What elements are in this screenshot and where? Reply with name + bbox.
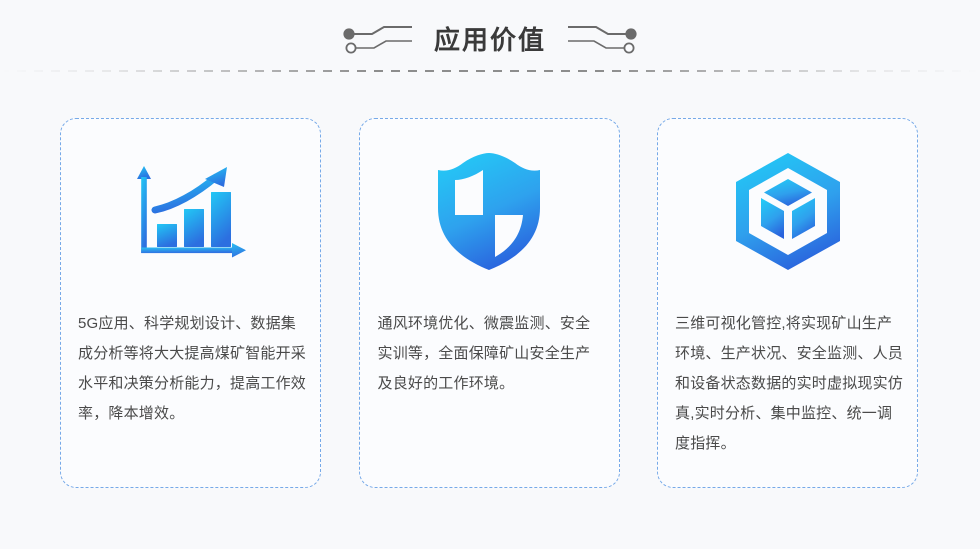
- card-1-icon-wrap: [61, 119, 320, 309]
- value-card-1[interactable]: 5G应用、科学规划设计、数据集成分析等将大大提高煤矿智能开采水平和决策分析能力，…: [60, 118, 321, 488]
- card-3-description: 三维可视化管控,将实现矿山生产环境、生产状况、安全监测、人员和设备状态数据的实时…: [658, 309, 917, 459]
- header-divider: [0, 70, 980, 72]
- title-row: 应用价值: [0, 22, 980, 58]
- card-3-icon-wrap: [658, 119, 917, 309]
- value-card-3[interactable]: 三维可视化管控,将实现矿山生产环境、生产状况、安全监测、人员和设备状态数据的实时…: [657, 118, 918, 488]
- bar-chart-growth-icon: [128, 153, 254, 276]
- circuit-line-left-icon: [342, 25, 414, 55]
- card-2-description: 通风环境优化、微震监测、安全实训等，全面保障矿山安全生产及良好的工作环境。: [360, 309, 619, 399]
- circuit-line-right-icon: [566, 25, 638, 55]
- page-title: 应用价值: [428, 22, 552, 58]
- hexagon-cube-3d-icon: [730, 151, 846, 278]
- page-header: 应用价值: [0, 0, 980, 90]
- card-1-description: 5G应用、科学规划设计、数据集成分析等将大大提高煤矿智能开采水平和决策分析能力，…: [61, 309, 320, 429]
- value-cards-container: 5G应用、科学规划设计、数据集成分析等将大大提高煤矿智能开采水平和决策分析能力，…: [60, 118, 918, 488]
- shield-security-icon: [433, 153, 545, 276]
- value-card-2[interactable]: 通风环境优化、微震监测、安全实训等，全面保障矿山安全生产及良好的工作环境。: [359, 118, 620, 488]
- card-2-icon-wrap: [360, 119, 619, 309]
